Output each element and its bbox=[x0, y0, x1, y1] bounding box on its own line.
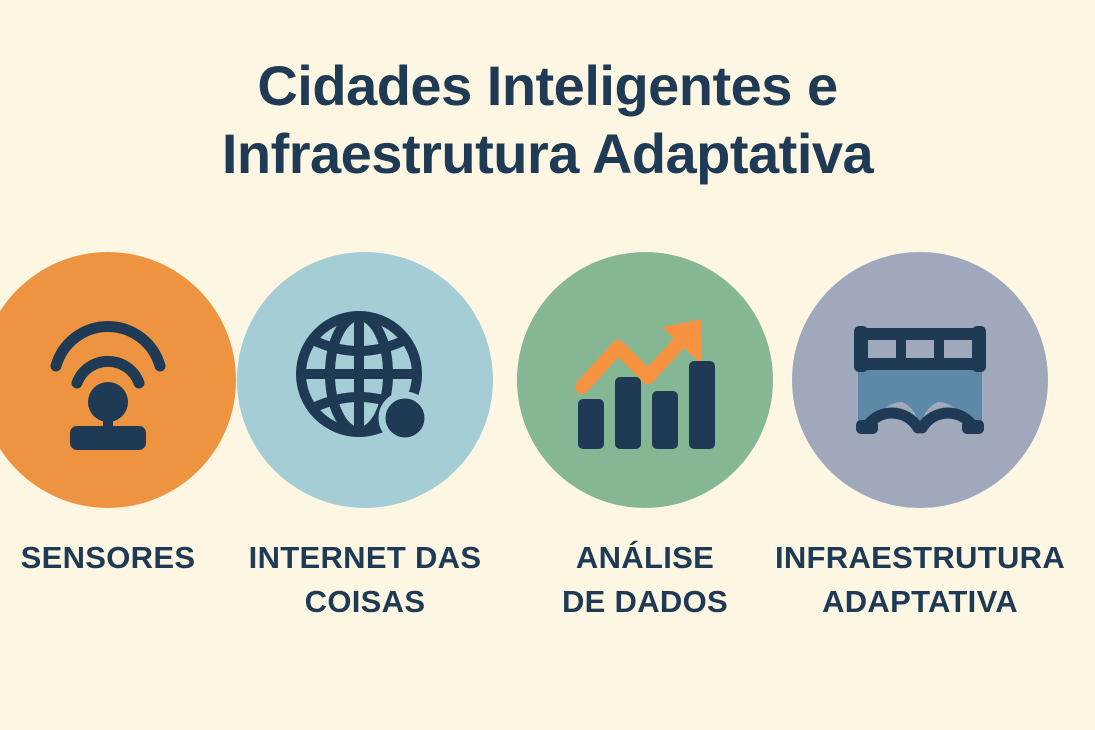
title-line-2: Infraestrutura Adaptativa bbox=[0, 120, 1095, 188]
icon-badge-internet-das-coisas[interactable] bbox=[237, 252, 493, 508]
label-infraestrutura-adaptativa-line-1: INFRAESTRUTURA bbox=[760, 536, 1080, 580]
label-analise-de-dados-line-1: ANÁLISE bbox=[509, 536, 781, 580]
icon-row bbox=[0, 252, 1095, 512]
label-analise-de-dados: ANÁLISE DE DADOS bbox=[509, 536, 781, 624]
icon-badge-analise-de-dados[interactable] bbox=[517, 252, 773, 508]
infographic-canvas: Cidades Inteligentes e Infraestrutura Ad… bbox=[0, 0, 1095, 730]
label-sensores-line-1: SENSORES bbox=[0, 536, 244, 580]
icon-badge-sensores[interactable] bbox=[0, 252, 236, 508]
icon-badge-infraestrutura-adaptativa[interactable] bbox=[792, 252, 1048, 508]
globe-network-icon bbox=[289, 304, 441, 456]
label-analise-de-dados-line-2: DE DADOS bbox=[509, 580, 781, 624]
title-line-1: Cidades Inteligentes e bbox=[0, 52, 1095, 120]
label-row: SENSORES INTERNET DAS COISAS ANÁLISE DE … bbox=[0, 536, 1095, 646]
antenna-sensor-icon bbox=[38, 310, 178, 450]
arch-bridge-icon bbox=[844, 304, 996, 456]
label-infraestrutura-adaptativa: INFRAESTRUTURA ADAPTATIVA bbox=[760, 536, 1080, 624]
label-sensores: SENSORES bbox=[0, 536, 244, 580]
page-title: Cidades Inteligentes e Infraestrutura Ad… bbox=[0, 52, 1095, 188]
label-internet-das-coisas-line-1: INTERNET DAS bbox=[229, 536, 501, 580]
label-infraestrutura-adaptativa-line-2: ADAPTATIVA bbox=[760, 580, 1080, 624]
label-internet-das-coisas-line-2: COISAS bbox=[229, 580, 501, 624]
label-internet-das-coisas: INTERNET DAS COISAS bbox=[229, 536, 501, 624]
bar-chart-trend-icon bbox=[570, 305, 720, 455]
